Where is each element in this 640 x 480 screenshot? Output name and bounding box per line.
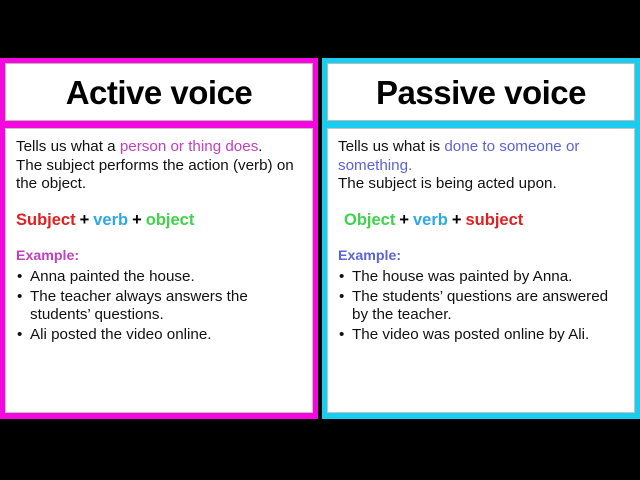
comparison-panels: Active voice Tells us what a person or t… bbox=[0, 58, 640, 419]
list-item: Ali posted the video online. bbox=[16, 326, 302, 344]
active-example-label: Example: bbox=[16, 248, 302, 264]
active-body-box: Tells us what a person or thing does. Th… bbox=[5, 128, 313, 413]
passive-intro-line-1: Tells us what is done to someone or some… bbox=[338, 138, 624, 175]
active-title: Active voice bbox=[66, 76, 253, 109]
list-item: The teacher always answers the students’… bbox=[16, 288, 302, 324]
active-intro-end: . bbox=[258, 138, 262, 155]
passive-intro-plain: Tells us what is bbox=[338, 138, 444, 155]
active-voice-panel: Active voice Tells us what a person or t… bbox=[0, 58, 318, 419]
list-item: The house was painted by Anna. bbox=[338, 268, 624, 286]
passive-intro-line-2: The subject is being acted upon. bbox=[338, 175, 624, 194]
passive-title-box: Passive voice bbox=[327, 63, 635, 121]
active-formula-plus-1: + bbox=[76, 211, 94, 229]
passive-formula-subject: subject bbox=[466, 211, 524, 229]
passive-voice-panel: Passive voice Tells us what is done to s… bbox=[322, 58, 640, 419]
active-example-list: Anna painted the house. The teacher alwa… bbox=[16, 268, 302, 347]
active-formula-subject: Subject bbox=[16, 211, 76, 229]
active-intro-line-2: The subject performs the action (verb) o… bbox=[16, 157, 302, 194]
active-formula-verb: verb bbox=[93, 211, 128, 229]
active-intro-plain: Tells us what a bbox=[16, 138, 120, 155]
active-formula-object: object bbox=[146, 211, 195, 229]
active-intro-highlight: person or thing does bbox=[120, 138, 258, 155]
passive-title: Passive voice bbox=[376, 76, 586, 109]
infographic-canvas: Active voice Tells us what a person or t… bbox=[0, 0, 640, 480]
list-item: The video was posted online by Ali. bbox=[338, 326, 624, 344]
passive-formula-plus-1: + bbox=[395, 211, 413, 229]
passive-example-list: The house was painted by Anna. The stude… bbox=[338, 268, 624, 347]
passive-formula: Object+verb+subject bbox=[338, 211, 624, 230]
passive-formula-object: Object bbox=[344, 211, 395, 229]
passive-body-box: Tells us what is done to someone or some… bbox=[327, 128, 635, 413]
passive-example-label: Example: bbox=[338, 248, 624, 264]
list-item: Anna painted the house. bbox=[16, 268, 302, 286]
list-item: The students’ questions are answered by … bbox=[338, 288, 624, 324]
active-formula: Subject+verb+object bbox=[16, 211, 302, 230]
active-formula-plus-2: + bbox=[128, 211, 146, 229]
active-intro-line-1: Tells us what a person or thing does. bbox=[16, 138, 302, 157]
passive-intro: Tells us what is done to someone or some… bbox=[338, 138, 624, 194]
active-title-box: Active voice bbox=[5, 63, 313, 121]
passive-formula-verb: verb bbox=[413, 211, 448, 229]
active-intro: Tells us what a person or thing does. Th… bbox=[16, 138, 302, 194]
passive-formula-plus-2: + bbox=[448, 211, 466, 229]
